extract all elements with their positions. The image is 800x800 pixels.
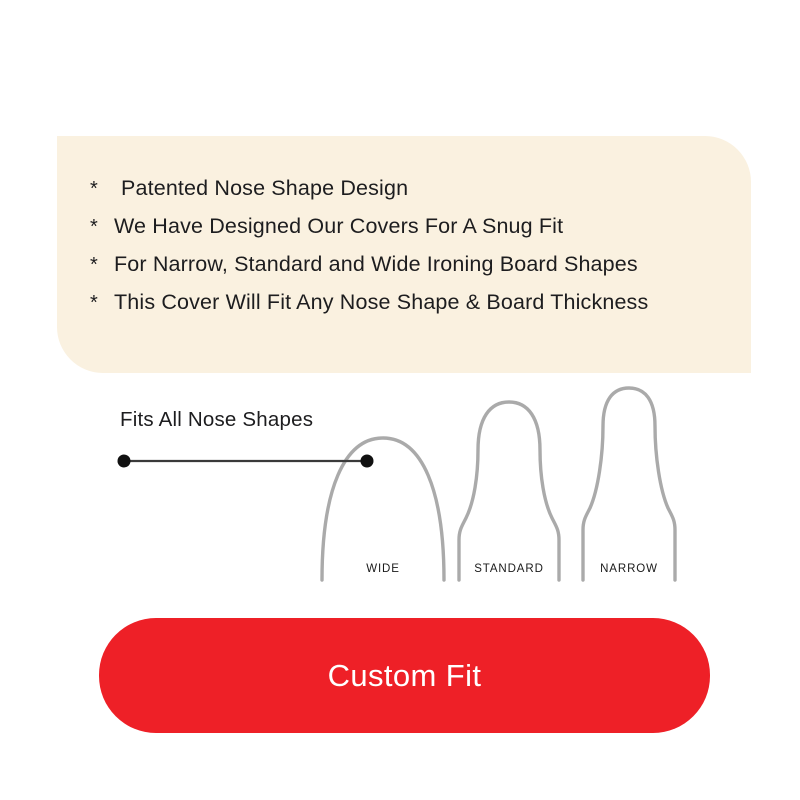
nose-shape-narrow — [583, 388, 675, 580]
bullet-marker-icon: * — [90, 217, 103, 237]
list-item-label: We Have Designed Our Covers For A Snug F… — [114, 214, 563, 239]
list-item: * Patented Nose Shape Design — [90, 176, 751, 214]
shape-label-narrow: NARROW — [600, 563, 658, 575]
promo-graphic: * Patented Nose Shape Design * We Have D… — [0, 0, 800, 800]
list-item-label: Patented Nose Shape Design — [121, 176, 408, 201]
custom-fit-button[interactable]: Custom Fit — [99, 618, 710, 733]
list-item-label: This Cover Will Fit Any Nose Shape & Boa… — [114, 290, 648, 315]
list-item: * We Have Designed Our Covers For A Snug… — [90, 214, 751, 252]
list-item: * For Narrow, Standard and Wide Ironing … — [90, 252, 751, 290]
nose-shape-diagram: WIDE STANDARD NARROW — [0, 380, 800, 595]
shape-label-wide: WIDE — [366, 563, 400, 575]
callout-leader-line — [118, 455, 374, 468]
list-item: * This Cover Will Fit Any Nose Shape & B… — [90, 290, 751, 328]
bullet-marker-icon: * — [90, 255, 103, 275]
shape-label-standard: STANDARD — [474, 563, 544, 575]
feature-panel: * Patented Nose Shape Design * We Have D… — [57, 136, 751, 373]
feature-bullet-list: * Patented Nose Shape Design * We Have D… — [90, 176, 751, 328]
bullet-marker-icon: * — [90, 293, 103, 313]
nose-shape-wide — [322, 438, 444, 580]
nose-shape-standard — [459, 402, 559, 580]
list-item-label: For Narrow, Standard and Wide Ironing Bo… — [114, 252, 638, 277]
bullet-marker-icon: * — [90, 179, 103, 199]
